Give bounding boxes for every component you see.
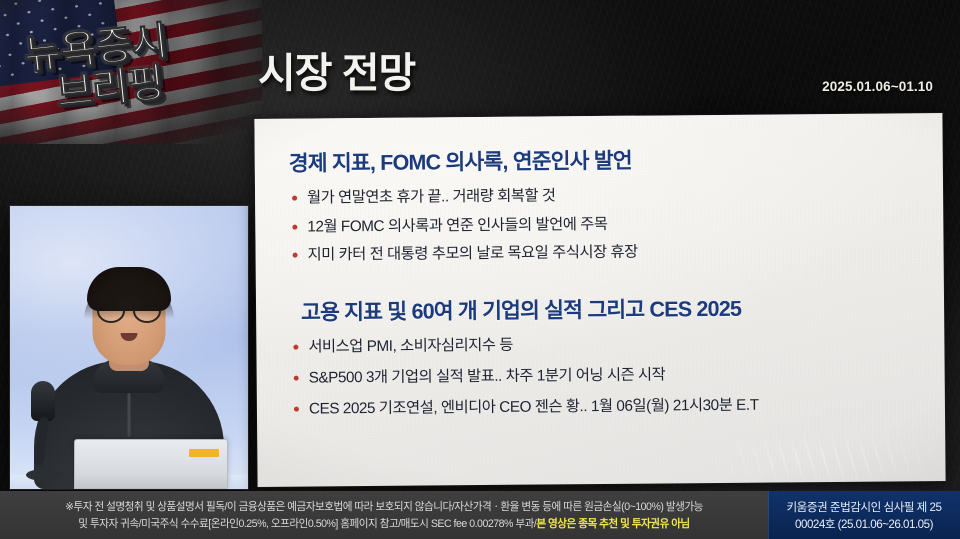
bullet-dot-icon <box>294 406 299 411</box>
compliance-line-1: 키움증권 준법감시인 심사필 제 25 <box>787 499 942 515</box>
section-2-heading: 고용 지표 및 60여 개 기업의 실적 그리고 CES 2025 <box>301 290 922 326</box>
disclaimer-highlight: 본 영상은 종목 추천 및 투자권유 아님 <box>536 518 689 530</box>
slide-section-1: 경제 지표, FOMC 의사록, 연준인사 발언 월가 연말연초 휴가 끝.. … <box>289 141 922 268</box>
section-2-bullet-list: 서비스업 PMI, 소비자심리지수 등 S&P500 3개 기업의 실적 발표.… <box>290 330 923 421</box>
slide-sections: 경제 지표, FOMC 의사록, 연준인사 발언 월가 연말연초 휴가 끝.. … <box>289 141 924 437</box>
microphone-icon <box>28 381 58 477</box>
bullet-text: 지미 카터 전 대통령 추모의 날로 목요일 주식시장 휴장 <box>308 244 638 264</box>
section-1-heading: 경제 지표, FOMC 의사록, 연준인사 발언 <box>289 141 921 178</box>
slide-card: 경제 지표, FOMC 의사록, 연준인사 발언 월가 연말연초 휴가 끝.. … <box>254 113 945 487</box>
disclaimer-panel: ※투자 전 설명청취 및 상품설명서 필독/이 금융상품은 예금자보호법에 따라… <box>0 491 768 539</box>
bullet-text: 서비스업 PMI, 소비자심리지수 등 <box>308 337 513 356</box>
list-item: CES 2025 기조연설, 엔비디아 CEO 젠슨 황.. 1월 06일(월)… <box>291 392 923 421</box>
list-item: 지미 카터 전 대통령 추모의 날로 목요일 주식시장 휴장 <box>290 239 922 268</box>
list-item: 서비스업 PMI, 소비자심리지수 등 <box>290 330 922 359</box>
page-title: 시장 전망 <box>258 39 415 99</box>
presenter-webcam <box>10 206 248 489</box>
laptop-icon <box>74 439 228 489</box>
bullet-text: 12월 FOMC 의사록과 연준 인사들의 발언에 주목 <box>307 216 607 236</box>
bullet-dot-icon <box>293 253 298 258</box>
list-item: S&P500 3개 기업의 실적 발표.. 차주 1분기 어닝 시즌 시작 <box>291 361 923 390</box>
disclaimer-line-1: ※투자 전 설명청취 및 상품설명서 필독/이 금융상품은 예금자보호법에 따라… <box>65 499 703 514</box>
compliance-panel: 키움증권 준법감시인 심사필 제 25 00024호 (25.01.06~26.… <box>768 491 960 539</box>
list-item: 월가 연말연초 휴가 끝.. 거래량 회복할 것 <box>289 181 921 210</box>
signature-watermark <box>683 431 933 491</box>
bullet-dot-icon <box>294 375 299 380</box>
footer-bar: ※투자 전 설명청취 및 상품설명서 필독/이 금융상품은 예금자보호법에 따라… <box>0 491 960 539</box>
slide-section-2: 고용 지표 및 60여 개 기업의 실적 그리고 CES 2025 서비스업 P… <box>290 290 923 421</box>
disclaimer-line-2-prefix: 및 투자자 귀속/미국주식 수수료[온라인0.25%, 오프라인0.50%] 홈… <box>78 518 536 530</box>
bullet-text: CES 2025 기조연설, 엔비디아 CEO 젠슨 황.. 1월 06일(월)… <box>309 396 759 417</box>
section-1-bullet-list: 월가 연말연초 휴가 끝.. 거래량 회복할 것 12월 FOMC 의사록과 연… <box>289 181 922 268</box>
bullet-dot-icon <box>292 224 297 229</box>
bullet-text: S&P500 3개 기업의 실적 발표.. 차주 1분기 어닝 시즌 시작 <box>309 366 666 386</box>
compliance-line-2: 00024호 (25.01.06~26.01.05) <box>795 516 933 532</box>
disclaimer-line-2: 및 투자자 귀속/미국주식 수수료[온라인0.25%, 오프라인0.50%] 홈… <box>78 516 689 531</box>
bullet-dot-icon <box>292 196 297 201</box>
bullet-dot-icon <box>293 345 298 350</box>
broadcast-stage: 뉴욕증시 브리핑 시장 전망 2025.01.06~01.10 경제 지표 <box>0 0 960 539</box>
bullet-text: 월가 연말연초 휴가 끝.. 거래량 회복할 것 <box>307 187 556 206</box>
list-item: 12월 FOMC 의사록과 연준 인사들의 발언에 주목 <box>289 210 921 239</box>
date-range-badge: 2025.01.06~01.10 <box>822 79 933 94</box>
